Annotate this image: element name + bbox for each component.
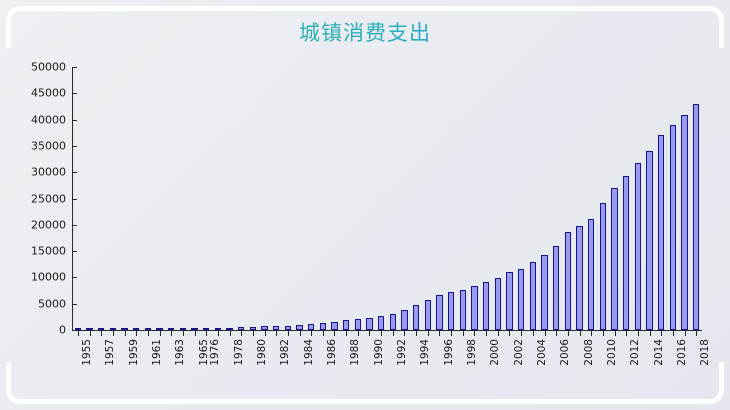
- x-axis-tick-label: 2004: [537, 339, 548, 366]
- x-axis-tick-mark: [206, 331, 207, 336]
- x-axis-tick-mark: [311, 331, 312, 336]
- x-axis-tick-mark: [591, 331, 592, 336]
- x-axis-tick-label: 1965: [199, 339, 210, 366]
- x-axis-tick-mark: [451, 331, 452, 336]
- x-axis-tick-mark: [393, 331, 394, 336]
- x-axis-tick-label: 1978: [234, 339, 245, 366]
- x-axis-tick-label: 1963: [175, 339, 186, 366]
- chart-plot-area: 0500010000150002000025000300003500040000…: [0, 0, 730, 410]
- y-axis-tick-mark: [72, 120, 77, 121]
- x-axis-tick-label: 2018: [700, 339, 711, 366]
- x-axis-tick-mark: [650, 331, 651, 336]
- x-axis-tick-mark: [125, 331, 126, 336]
- x-axis-tick-mark: [498, 331, 499, 336]
- x-axis-tick-labels: 1955195719591961196319651976197819801982…: [0, 0, 730, 410]
- x-axis-tick-mark: [323, 331, 324, 336]
- x-axis-tick-mark: [195, 331, 196, 336]
- y-axis-tick-mark: [72, 304, 77, 305]
- x-axis-tick-mark: [474, 331, 475, 336]
- x-axis-tick-mark: [160, 331, 161, 336]
- x-axis-tick-label: 1994: [420, 339, 431, 366]
- x-axis-tick-label: 1980: [257, 339, 268, 366]
- y-axis-tick-mark: [72, 277, 77, 278]
- x-axis-tick-label: 1955: [82, 339, 93, 366]
- x-axis-tick-mark: [358, 331, 359, 336]
- x-axis-tick-mark: [288, 331, 289, 336]
- x-axis-tick-mark: [404, 331, 405, 336]
- x-axis-tick-mark: [428, 331, 429, 336]
- y-axis-tick-mark: [72, 251, 77, 252]
- x-axis-tick-mark: [486, 331, 487, 336]
- x-axis-tick-label: 1996: [444, 339, 455, 366]
- x-axis-tick-label: 2000: [490, 339, 501, 366]
- x-axis-tick-mark: [685, 331, 686, 336]
- x-axis-tick-mark: [90, 331, 91, 336]
- y-axis-tick-mark: [72, 67, 77, 68]
- x-axis-tick-label: 1957: [105, 339, 116, 366]
- x-axis-tick-mark: [638, 331, 639, 336]
- x-axis-tick-mark: [265, 331, 266, 336]
- x-axis-tick-label: 2016: [677, 339, 688, 366]
- x-axis-tick-mark: [509, 331, 510, 336]
- y-axis-tick-mark: [72, 172, 77, 173]
- x-axis-tick-mark: [218, 331, 219, 336]
- x-axis-tick-mark: [241, 331, 242, 336]
- x-axis-tick-mark: [253, 331, 254, 336]
- x-axis-tick-mark: [369, 331, 370, 336]
- y-axis-tick-mark: [72, 225, 77, 226]
- x-axis-tick-mark: [334, 331, 335, 336]
- x-axis-tick-label: 2012: [630, 339, 641, 366]
- x-axis-tick-label: 1988: [350, 339, 361, 366]
- x-axis-tick-mark: [230, 331, 231, 336]
- x-axis-tick-mark: [416, 331, 417, 336]
- x-axis-tick-label: 1990: [374, 339, 385, 366]
- x-axis-tick-mark: [521, 331, 522, 336]
- x-axis-tick-label: 1984: [304, 339, 315, 366]
- x-axis-tick-mark: [183, 331, 184, 336]
- x-axis-tick-label: 2008: [584, 339, 595, 366]
- x-axis-tick-mark: [78, 331, 79, 336]
- x-axis-tick-mark: [533, 331, 534, 336]
- x-axis-tick-mark: [113, 331, 114, 336]
- x-axis-tick-label: 2010: [607, 339, 618, 366]
- x-axis-tick-mark: [673, 331, 674, 336]
- x-axis-tick-mark: [545, 331, 546, 336]
- y-axis-tick-mark: [72, 93, 77, 94]
- x-axis-tick-mark: [439, 331, 440, 336]
- x-axis-tick-label: 1982: [280, 339, 291, 366]
- x-axis-tick-label: 2002: [514, 339, 525, 366]
- x-axis-tick-mark: [615, 331, 616, 336]
- x-axis-tick-label: 1992: [397, 339, 408, 366]
- y-axis-tick-mark: [72, 199, 77, 200]
- x-axis-tick-label: 1998: [467, 339, 478, 366]
- x-axis-tick-mark: [626, 331, 627, 336]
- x-axis-tick-label: 1959: [129, 339, 140, 366]
- x-axis-tick-mark: [568, 331, 569, 336]
- x-axis-tick-mark: [136, 331, 137, 336]
- x-axis-tick-mark: [463, 331, 464, 336]
- x-axis-tick-mark: [603, 331, 604, 336]
- x-axis-tick-mark: [300, 331, 301, 336]
- x-axis-tick-mark: [276, 331, 277, 336]
- x-axis-tick-mark: [171, 331, 172, 336]
- x-axis-tick-mark: [346, 331, 347, 336]
- x-axis-tick-label: 1976: [210, 339, 221, 366]
- y-axis-tick-mark: [72, 330, 77, 331]
- x-axis-tick-mark: [101, 331, 102, 336]
- x-axis-tick-label: 1961: [152, 339, 163, 366]
- x-axis-tick-mark: [696, 331, 697, 336]
- x-axis-tick-mark: [580, 331, 581, 336]
- x-axis-tick-mark: [661, 331, 662, 336]
- x-axis-tick-mark: [556, 331, 557, 336]
- y-axis-tick-mark: [72, 146, 77, 147]
- x-axis-tick-mark: [381, 331, 382, 336]
- x-axis-tick-label: 2006: [560, 339, 571, 366]
- x-axis-tick-label: 2014: [654, 339, 665, 366]
- x-axis-tick-label: 1986: [327, 339, 338, 366]
- x-axis-tick-mark: [148, 331, 149, 336]
- slide-canvas: 城镇消费支出 050001000015000200002500030000350…: [0, 0, 730, 410]
